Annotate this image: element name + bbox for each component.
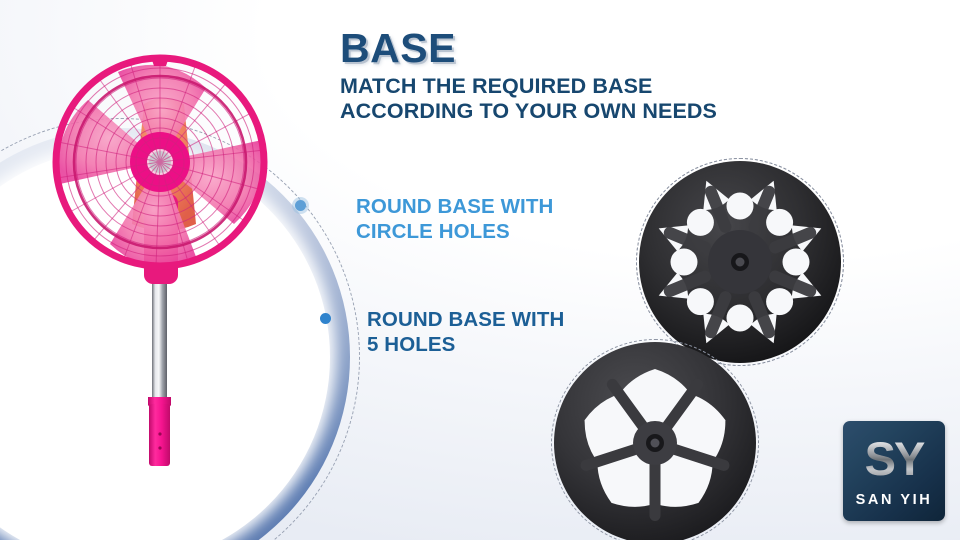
pink-pedestal-fan-image — [48, 44, 288, 514]
bullet-item-round-base-5-holes: ROUND BASE WITH 5 HOLES — [320, 307, 564, 357]
page-subtitle: MATCH THE REQUIRED BASE ACCORDING TO YOU… — [340, 74, 860, 124]
product-dashed-outline — [551, 339, 759, 540]
logo-monogram-sy-icon: SY — [843, 430, 945, 486]
heading-block: BASE MATCH THE REQUIRED BASE ACCORDING T… — [340, 28, 860, 124]
bullet-dot-icon — [320, 313, 331, 324]
bullet-label: ROUND BASE WITH CIRCLE HOLES — [356, 194, 553, 244]
bullet-dot-icon — [295, 200, 306, 211]
page-title: BASE — [340, 28, 860, 70]
bullet-label-line-1: ROUND BASE WITH — [356, 194, 553, 219]
product-dashed-outline — [636, 158, 844, 366]
page-subtitle-line-2: ACCORDING TO YOUR OWN NEEDS — [340, 99, 860, 124]
product-image-round-base-circle-holes — [636, 158, 844, 366]
svg-text:SY: SY — [865, 432, 925, 485]
bullet-label-line-2: CIRCLE HOLES — [356, 219, 553, 244]
product-image-round-base-5-holes — [551, 339, 759, 540]
page-subtitle-line-1: MATCH THE REQUIRED BASE — [340, 74, 860, 99]
bullet-label: ROUND BASE WITH 5 HOLES — [367, 307, 564, 357]
logo-brand-name: SAN YIH — [843, 492, 945, 508]
bullet-item-round-base-circle-holes: ROUND BASE WITH CIRCLE HOLES — [295, 194, 553, 244]
bullet-label-line-2: 5 HOLES — [367, 332, 564, 357]
slide-canvas: BASE MATCH THE REQUIRED BASE ACCORDING T… — [0, 0, 960, 540]
brand-logo: SY SAN YIH — [843, 421, 945, 521]
bullet-label-line-1: ROUND BASE WITH — [367, 307, 564, 332]
